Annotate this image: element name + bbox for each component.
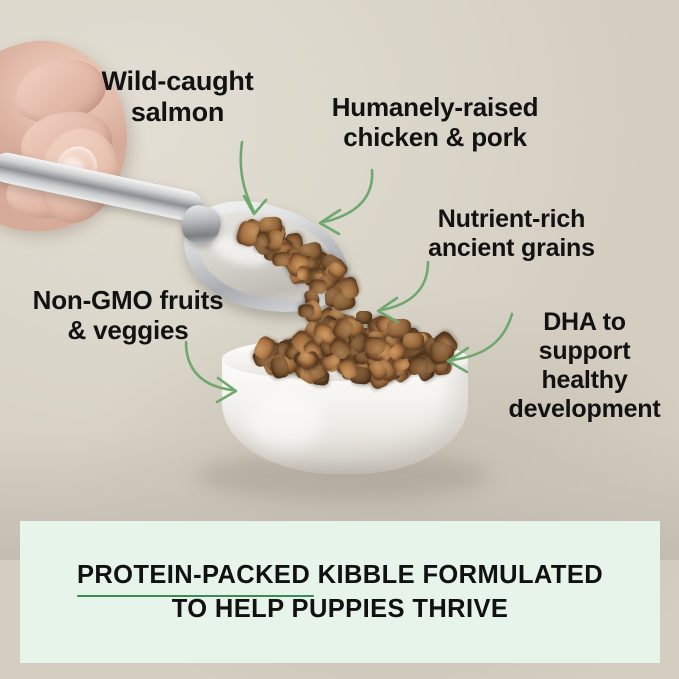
callout-label-grains: Nutrient-rich ancient grains: [404, 205, 619, 263]
callout-label-dha: DHA to support healthy development: [492, 308, 677, 424]
callout-label-salmon: Wild-caught salmon: [70, 66, 285, 129]
product-image-canvas: Wild-caught salmon Humanely-raised chick…: [0, 0, 679, 679]
tagline-banner: PROTEIN-PACKED KIBBLE FORMULATED TO HELP…: [20, 521, 660, 663]
tagline-line-2: TO HELP PUPPIES THRIVE: [172, 592, 509, 626]
callout-label-nongmo: Non-GMO fruits & veggies: [8, 285, 248, 345]
tagline-underlined-phrase: PROTEIN-PACKED: [77, 558, 310, 592]
callout-label-chicken: Humanely-raised chicken & pork: [310, 92, 560, 152]
tagline-line-1: PROTEIN-PACKED KIBBLE FORMULATED: [77, 558, 603, 592]
tagline-line-1-rest: KIBBLE FORMULATED: [310, 561, 603, 589]
